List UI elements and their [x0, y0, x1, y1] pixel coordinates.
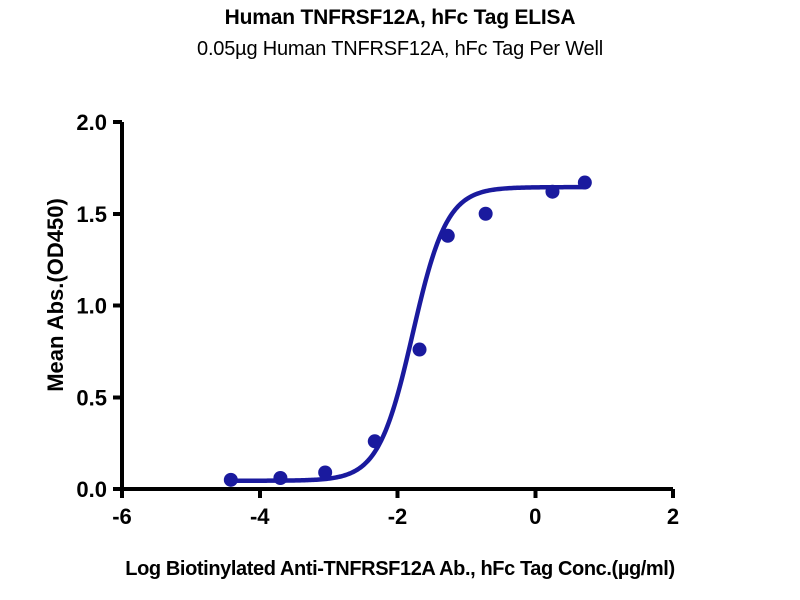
x-tick-label: 0 — [529, 504, 541, 529]
data-point — [578, 176, 592, 190]
y-tick-label: 0.0 — [76, 477, 107, 502]
data-point — [479, 207, 493, 221]
data-point — [368, 434, 382, 448]
y-tick-label: 2.0 — [76, 110, 107, 135]
data-point — [441, 229, 455, 243]
data-point — [318, 465, 332, 479]
data-point — [224, 473, 238, 487]
y-tick-label: 0.5 — [76, 385, 107, 410]
x-tick-label-group: -6-4-202 — [112, 504, 679, 529]
x-tick-label: -2 — [388, 504, 408, 529]
x-tick-label: 2 — [667, 504, 679, 529]
fit-curve — [231, 187, 585, 481]
data-point — [545, 185, 559, 199]
plot-area: 0.00.51.01.52.0 -6-4-202 — [0, 0, 800, 600]
y-tick-label-group: 0.00.51.01.52.0 — [76, 110, 107, 502]
y-tick-label: 1.0 — [76, 294, 107, 319]
x-tick-label: -6 — [112, 504, 132, 529]
data-point — [413, 343, 427, 357]
data-point — [273, 471, 287, 485]
data-point-group — [224, 176, 592, 487]
chart-page: Human TNFRSF12A, hFc Tag ELISA 0.05µg Hu… — [0, 0, 800, 600]
x-tick-label: -4 — [250, 504, 270, 529]
y-tick-label: 1.5 — [76, 202, 107, 227]
